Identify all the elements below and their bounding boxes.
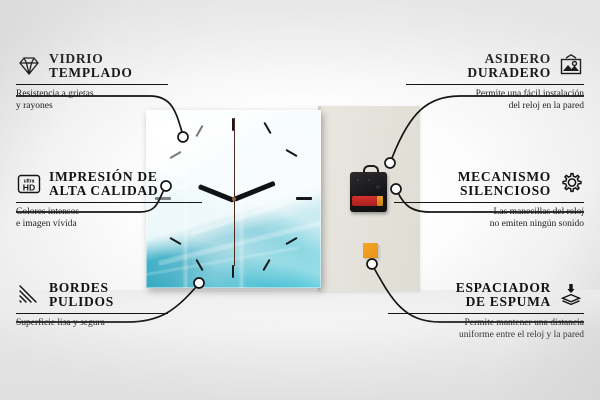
- feature-impresion-alta-calidad: ultra HD IMPRESIÓN DE ALTA CALIDAD Color…: [16, 170, 230, 230]
- svg-text:HD: HD: [23, 183, 35, 193]
- feature-rule: [16, 84, 168, 85]
- feature-desc-line2: uniforme entre el reloj y la pared: [370, 329, 584, 341]
- feature-rule: [16, 202, 202, 203]
- feature-desc-line1: Colores intensos: [16, 206, 230, 218]
- gear-icon: [558, 171, 584, 197]
- feature-title-line1: ESPACIADOR: [456, 281, 551, 295]
- feature-description: Las manecillas del reloj no emiten ningú…: [370, 206, 584, 230]
- feature-espaciador-de-espuma: ESPACIADOR DE ESPUMA Permite mantener un…: [370, 281, 584, 341]
- connector-node-asidero: [385, 158, 395, 168]
- feature-description: Resistencia a grietas y rayones: [16, 88, 230, 112]
- feature-title-line1: IMPRESIÓN DE: [49, 170, 158, 184]
- feature-title-line2: DE ESPUMA: [466, 295, 551, 309]
- polished-edge-icon: [16, 282, 42, 308]
- feature-desc-line2: no emiten ningún sonido: [370, 218, 584, 230]
- feature-desc-line1: Las manecillas del reloj: [370, 206, 584, 218]
- feature-rule: [16, 313, 168, 314]
- connector-node-vidrio: [178, 132, 188, 142]
- feature-desc-line1: Resistencia a grietas: [16, 88, 230, 100]
- feature-title-line1: MECANISMO: [458, 170, 551, 184]
- feature-desc-line2: e imagen vívida: [16, 218, 230, 230]
- connector-node-espuma: [367, 259, 377, 269]
- feature-asidero-duradero: ASIDERO DURADERO Permite una fácil insta…: [370, 52, 584, 112]
- feature-description: Permite una fácil instalación del reloj …: [370, 88, 584, 112]
- foam-spacer-icon: [558, 282, 584, 308]
- feature-title-line1: VIDRIO: [49, 52, 103, 66]
- feature-desc-line1: Permite mantener una distancia: [370, 317, 584, 329]
- ultra-hd-icon: ultra HD: [16, 171, 42, 197]
- feature-title-line2: PULIDOS: [49, 295, 114, 309]
- feature-title-line2: DURADERO: [467, 66, 551, 80]
- feature-desc-line1: Permite una fácil instalación: [370, 88, 584, 100]
- picture-hanger-icon: [558, 53, 584, 79]
- feature-title-line2: TEMPLADO: [49, 66, 133, 80]
- feature-title-line2: ALTA CALIDAD: [49, 184, 158, 198]
- feature-vidrio-templado: VIDRIO TEMPLADO Resistencia a grietas y …: [16, 52, 230, 112]
- feature-rule: [388, 313, 584, 314]
- feature-title-line1: BORDES: [49, 281, 109, 295]
- feature-title-line1: ASIDERO: [485, 52, 551, 66]
- feature-desc-line2: y rayones: [16, 100, 230, 112]
- feature-rule: [394, 202, 584, 203]
- feature-bordes-pulidos: BORDES PULIDOS Superficie lisa y segura: [16, 281, 230, 329]
- feature-rule: [406, 84, 584, 85]
- feature-title-line2: SILENCIOSO: [460, 184, 551, 198]
- feature-description: Colores intensos e imagen vívida: [16, 206, 230, 230]
- feature-desc-line1: Superficie lisa y segura: [16, 317, 230, 329]
- diamond-icon: [16, 53, 42, 79]
- feature-mecanismo-silencioso: MECANISMO SILENCIOSO Las manecillas del …: [370, 170, 584, 230]
- feature-description: Superficie lisa y segura: [16, 317, 230, 329]
- feature-description: Permite mantener una distancia uniforme …: [370, 317, 584, 341]
- infographic-canvas: VIDRIO TEMPLADO Resistencia a grietas y …: [0, 0, 600, 400]
- feature-desc-line2: del reloj en la pared: [370, 100, 584, 112]
